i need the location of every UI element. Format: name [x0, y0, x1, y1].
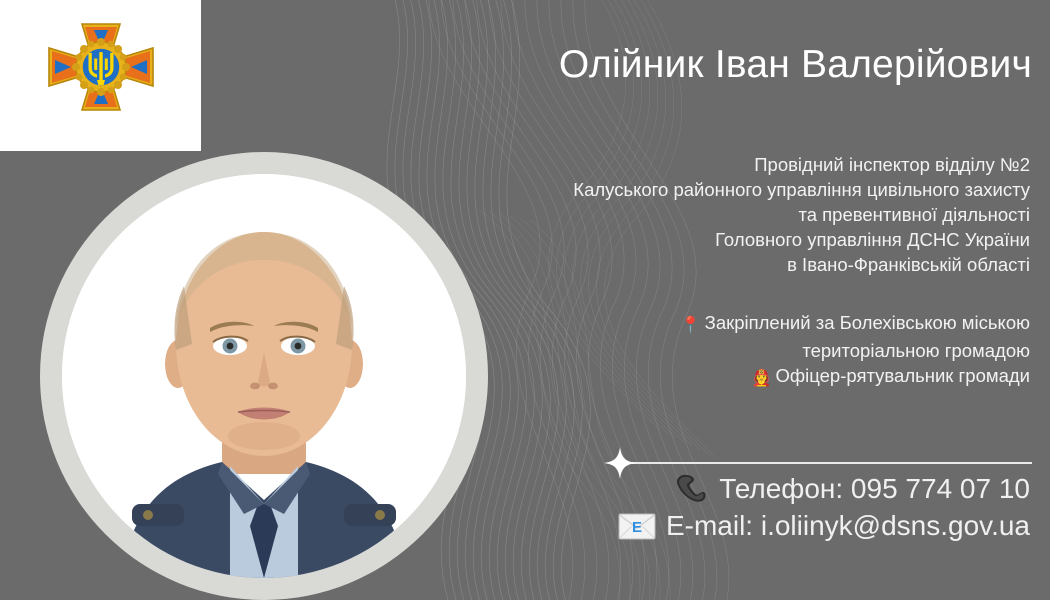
- assignment-line-3: 🧑‍🚒Офіцер-рятувальник громади: [410, 363, 1030, 391]
- svg-text:E: E: [632, 519, 642, 536]
- position-block: Провідний інспектор відділу №2 Калуськог…: [420, 152, 1030, 277]
- phone-text: Телефон: 095 774 07 10: [719, 472, 1030, 506]
- assignment-line-2: територіальною громадою: [410, 338, 1030, 363]
- email-row[interactable]: E E-mail: i.oliinyk@dsns.gov.ua: [618, 509, 1030, 543]
- position-line-1: Провідний інспектор відділу №2: [420, 152, 1030, 177]
- logo-panel: [0, 0, 201, 151]
- phone-icon: [675, 474, 709, 504]
- business-card: Олійник Іван Валерійович Провідний інспе…: [0, 0, 1050, 600]
- assignment-text-1: Закріплений за Болехівською міською: [705, 312, 1030, 333]
- phone-row[interactable]: Телефон: 095 774 07 10: [675, 472, 1030, 506]
- assignment-block: 📍Закріплений за Болехівською міською тер…: [410, 310, 1030, 391]
- position-line-2: Калуського районного управління цивільно…: [420, 177, 1030, 202]
- email-text: E-mail: i.oliinyk@dsns.gov.ua: [666, 509, 1030, 543]
- sparkle-icon: [604, 447, 636, 479]
- location-pin-icon: 📍: [681, 317, 701, 334]
- assignment-line-1: 📍Закріплений за Болехівською міською: [410, 310, 1030, 338]
- divider-line: [632, 462, 1032, 464]
- portrait-photo: [62, 174, 466, 578]
- assignment-text-3: Офіцер-рятувальник громади: [776, 365, 1030, 386]
- firefighter-icon: 🧑‍🚒: [752, 370, 772, 387]
- divider: [604, 461, 1032, 464]
- page-title: Олійник Іван Валерійович: [412, 44, 1032, 86]
- dsns-emblem-icon: [41, 16, 161, 136]
- email-icon: E: [618, 513, 656, 540]
- position-line-5: в Івано-Франківській області: [420, 252, 1030, 277]
- position-line-4: Головного управління ДСНС України: [420, 227, 1030, 252]
- position-line-3: та превентивної діяльності: [420, 202, 1030, 227]
